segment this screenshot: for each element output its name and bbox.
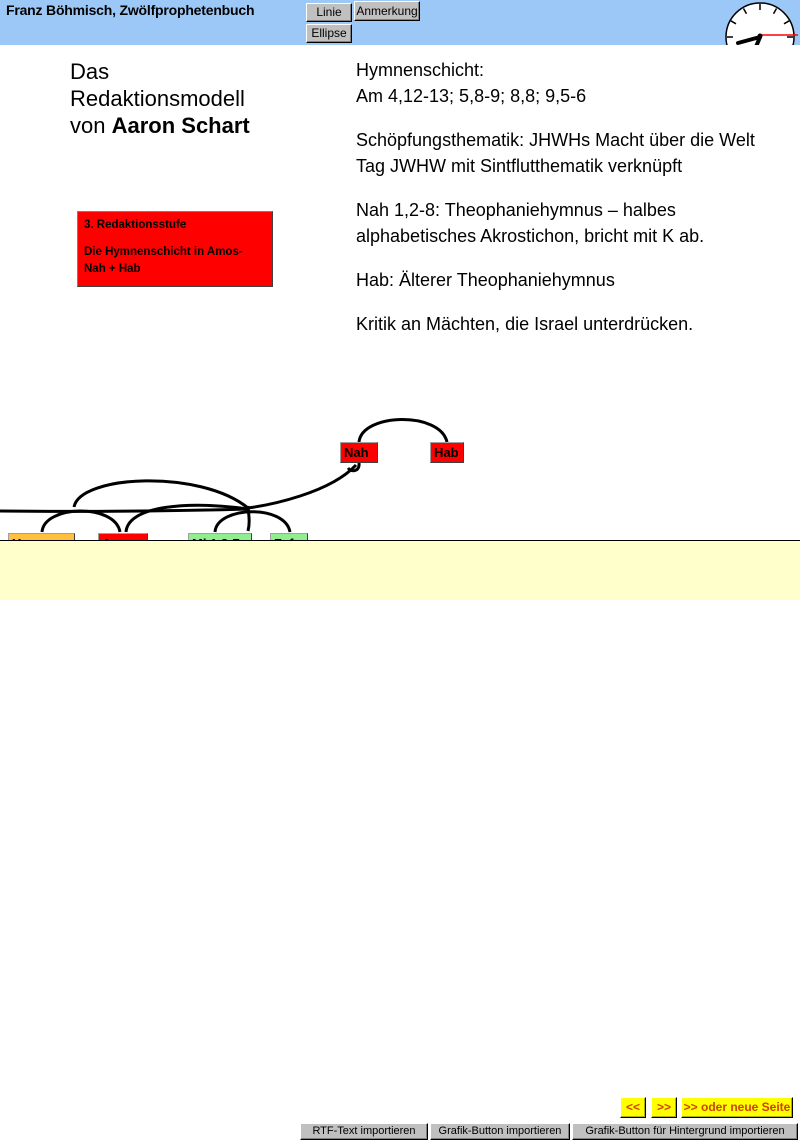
hymnenschicht-refs: Am 4,12-13; 5,8-9; 8,8; 9,5-6 xyxy=(356,86,586,106)
diagram-node-hab[interactable]: Hab xyxy=(430,442,464,463)
linie-button[interactable]: Linie xyxy=(306,3,352,22)
redaktionsstufe-title: 3. Redaktionsstufe xyxy=(84,217,266,234)
slide-body-text: Hymnenschicht: Am 4,12-13; 5,8-9; 8,8; 9… xyxy=(356,57,786,337)
slide-heading: Das Redaktionsmodell von Aaron Schart xyxy=(70,58,345,139)
nahum-line-1: Nah 1,2-8: Theophaniehymnus – halbes xyxy=(356,200,676,220)
paragraph-hymnenschicht: Hymnenschicht: Am 4,12-13; 5,8-9; 8,8; 9… xyxy=(356,57,786,109)
import-graphic-button[interactable]: Grafik-Button importieren xyxy=(430,1123,570,1140)
heading-author: Aaron Schart xyxy=(112,113,250,138)
heading-line-1: Das xyxy=(70,58,345,85)
paragraph-kritik: Kritik an Mächten, die Israel unterdrück… xyxy=(356,311,786,337)
nahum-line-2: alphabetisches Akrostichon, bricht mit K… xyxy=(356,226,704,246)
redaktion-diagram: Nah Hab Hosea Amos Mi 1.2-7 Zef xyxy=(0,365,520,545)
paragraph-habakuk: Hab: Älterer Theophaniehymnus xyxy=(356,267,786,293)
import-background-graphic-button[interactable]: Grafik-Button für Hintergrund importiere… xyxy=(572,1123,798,1140)
redbox-spacer xyxy=(84,234,266,244)
heading-line-3-prefix: von xyxy=(70,113,112,138)
paragraph-schoepfungsthematik: Schöpfungsthematik: JHWHs Macht über die… xyxy=(356,127,786,179)
new-page-button[interactable]: >> oder neue Seite xyxy=(681,1097,793,1118)
redaktionsstufe-line-3: Nah + Hab xyxy=(84,261,266,278)
redaktionsstufe-line-2: Die Hymnenschicht in Amos- xyxy=(84,244,266,261)
ellipse-button[interactable]: Ellipse xyxy=(306,24,352,43)
redaktionsstufe-box: 3. Redaktionsstufe Die Hymnenschicht in … xyxy=(77,211,273,287)
slide-canvas: Das Redaktionsmodell von Aaron Schart 3.… xyxy=(0,45,800,540)
heading-line-3: von Aaron Schart xyxy=(70,112,345,139)
schoepfungsthematik-line-1: Schöpfungsthematik: JHWHs Macht über die… xyxy=(356,130,755,150)
diagram-node-nah[interactable]: Nah xyxy=(340,442,378,463)
next-page-button[interactable]: >> xyxy=(651,1097,677,1118)
paragraph-nahum: Nah 1,2-8: Theophaniehymnus – halbes alp… xyxy=(356,197,786,249)
schoepfungsthematik-line-2: Tag JWHW mit Sintflutthematik verknüpft xyxy=(356,156,682,176)
import-rtf-text-button[interactable]: RTF-Text importieren xyxy=(300,1123,428,1140)
anmerkung-button[interactable]: Anmerkung xyxy=(354,1,420,21)
hymnenschicht-label: Hymnenschicht: xyxy=(356,60,484,80)
page-title: Franz Böhmisch, Zwölfprophetenbuch xyxy=(6,2,254,18)
bottom-toolbar: << >> >> oder neue Seite RTF-Text import… xyxy=(0,540,800,600)
previous-page-button[interactable]: << xyxy=(620,1097,646,1118)
heading-line-2: Redaktionsmodell xyxy=(70,85,345,112)
title-bar: Franz Böhmisch, Zwölfprophetenbuch Linie… xyxy=(0,0,800,45)
